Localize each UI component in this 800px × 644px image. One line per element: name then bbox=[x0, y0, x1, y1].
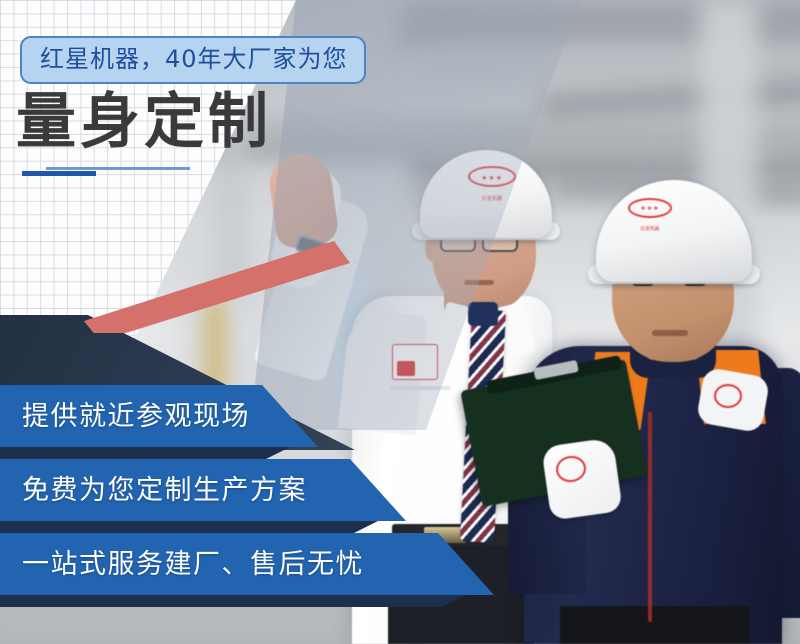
helmet-logo-icon-right: ★★★ 红星机器 bbox=[628, 198, 672, 230]
feature-bar-2-shadow bbox=[0, 521, 378, 533]
feature-bar-2[interactable]: 免费为您定制生产方案 bbox=[0, 459, 406, 521]
title-underline-thick bbox=[22, 171, 96, 176]
glove-logo-icon-right bbox=[714, 384, 742, 408]
helmet-logo-stars-right: ★★★ bbox=[628, 206, 672, 212]
title-underline-thin bbox=[46, 167, 190, 170]
person-right-jacket-zipper bbox=[648, 412, 652, 622]
person-right-mouth bbox=[652, 330, 688, 336]
feature-bar-1-label: 提供就近参观现场 bbox=[22, 403, 250, 430]
banner-canvas: ★★★ 红星机器 bbox=[0, 0, 800, 644]
person-right-trousers bbox=[560, 606, 750, 644]
helmet-logo-text-right: 红星机器 bbox=[628, 227, 672, 232]
page-title: 量身定制 bbox=[16, 92, 272, 152]
person-right-glove-left bbox=[541, 437, 623, 520]
tagline-badge: 红星机器，40年大厂家为您 bbox=[20, 36, 366, 84]
feature-bar-2-label: 免费为您定制生产方案 bbox=[22, 477, 307, 504]
feature-bar-1-shadow bbox=[0, 447, 290, 459]
person-right-hard-hat bbox=[596, 180, 752, 282]
feature-bar-3-shadow bbox=[0, 595, 466, 607]
feature-bar-3[interactable]: 一站式服务建厂、售后无忧 bbox=[0, 533, 494, 595]
feature-bar-3-label: 一站式服务建厂、售后无忧 bbox=[22, 551, 364, 578]
feature-bar-1[interactable]: 提供就近参观现场 bbox=[0, 385, 318, 447]
